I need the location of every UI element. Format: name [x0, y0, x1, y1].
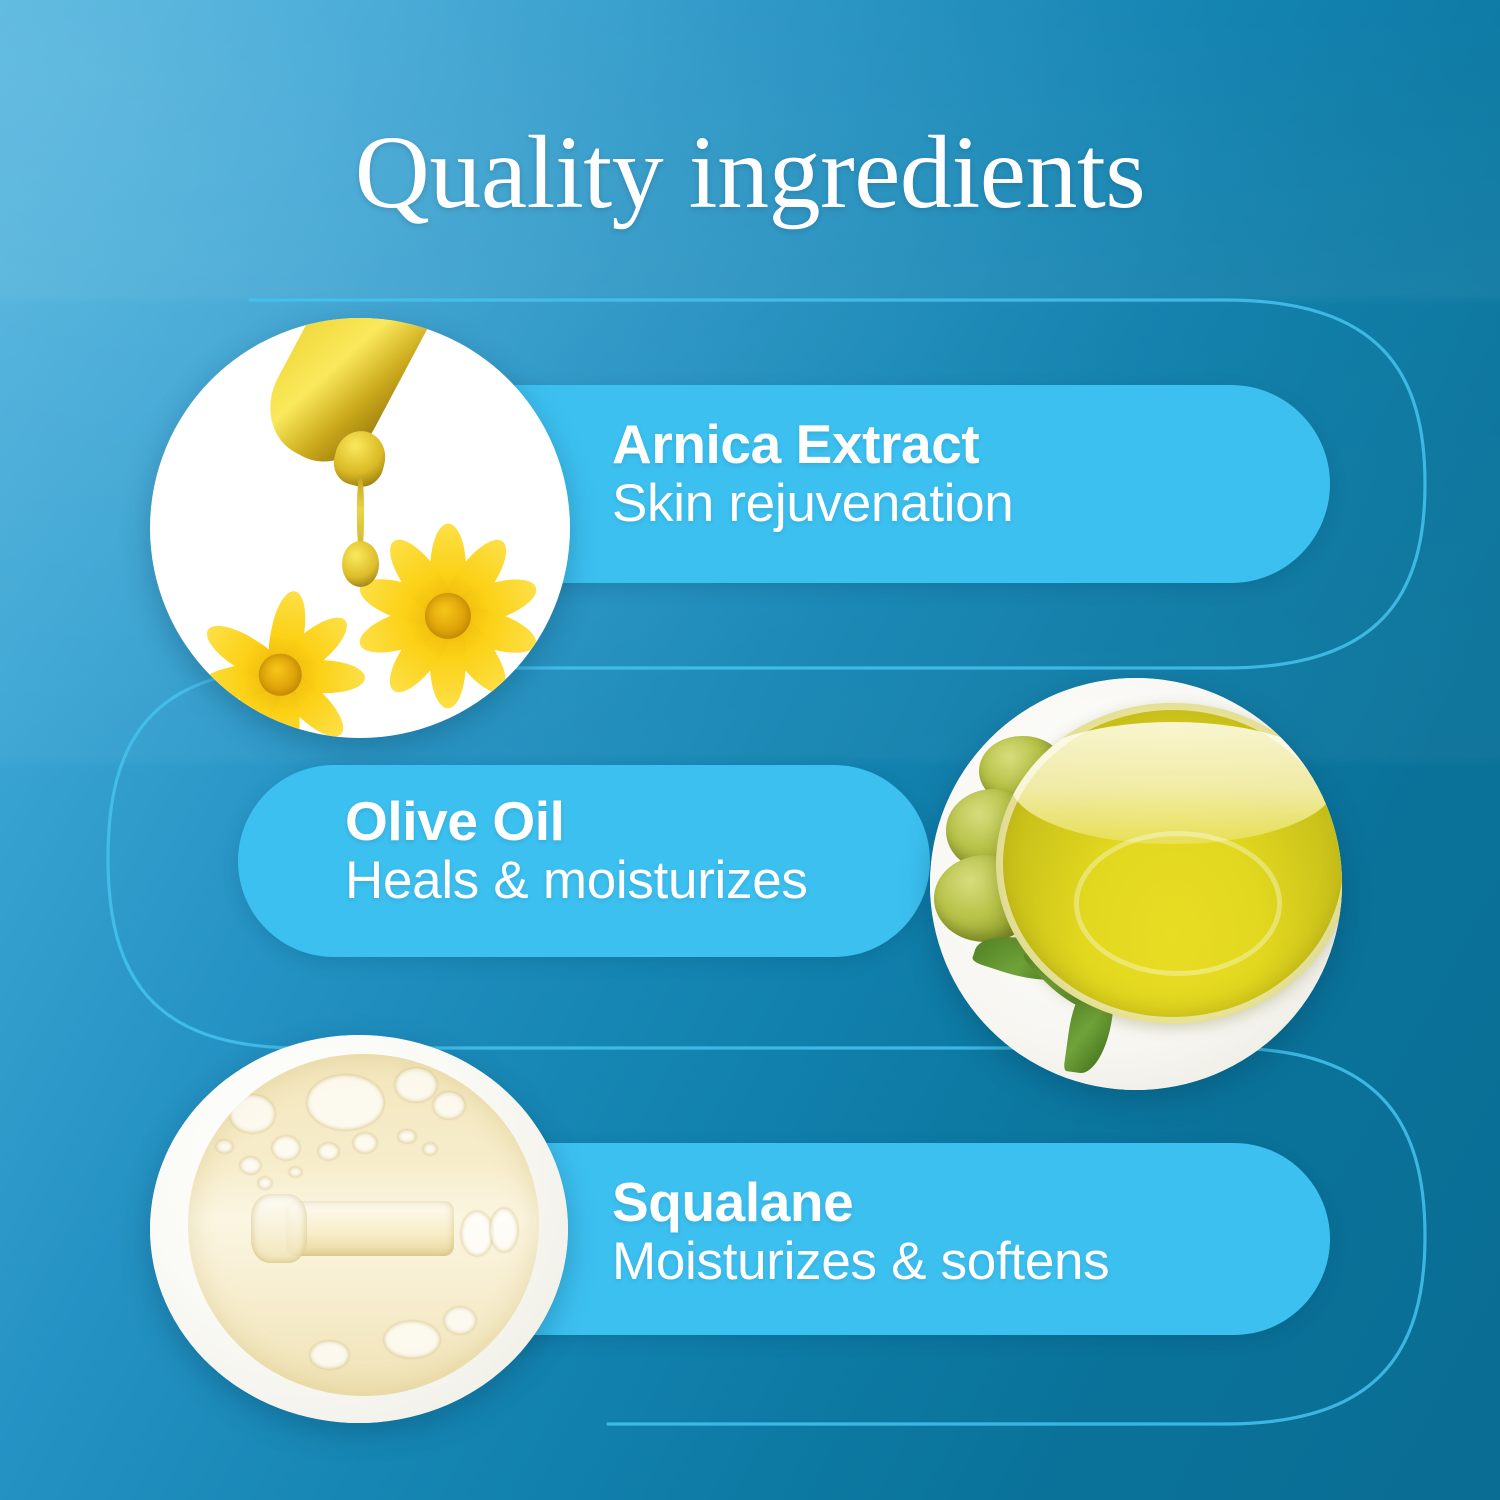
ingredient-name-squalane: Squalane — [612, 1174, 1109, 1230]
flower-center — [425, 593, 471, 639]
arnica-flower-dropper-photo — [150, 318, 570, 738]
ingredient-image-olive-oil — [930, 678, 1342, 1090]
page-title: Quality ingredients — [0, 118, 1500, 227]
glass-bowl-rim — [996, 703, 1342, 1024]
ingredient-image-arnica — [150, 318, 570, 738]
ingredient-text-squalane: Squalane Moisturizes & softens — [612, 1174, 1109, 1290]
serum-capsule — [286, 1201, 455, 1256]
ingredient-name-arnica: Arnica Extract — [612, 416, 1013, 472]
flower-center — [259, 654, 302, 697]
ingredient-benefit-squalane: Moisturizes & softens — [612, 1234, 1109, 1290]
ingredient-benefit-arnica: Skin rejuvenation — [612, 476, 1013, 532]
ingredient-text-arnica: Arnica Extract Skin rejuvenation — [612, 416, 1013, 532]
ingredient-text-olive-oil: Olive Oil Heals & moisturizes — [345, 793, 808, 909]
squalane-serum-jar-photo — [150, 1035, 568, 1423]
serum-gel — [188, 1054, 539, 1395]
infographic-canvas: Quality ingredients Arnica Extract Skin … — [0, 0, 1500, 1500]
oil-stream — [357, 478, 364, 549]
ingredient-image-squalane — [150, 1035, 568, 1423]
oil-droplet — [342, 541, 380, 587]
olive-oil-bowl-photo — [930, 678, 1342, 1090]
ingredient-benefit-olive-oil: Heals & moisturizes — [345, 853, 808, 909]
ingredient-name-olive-oil: Olive Oil — [345, 793, 808, 849]
serum-capsule-cap — [251, 1194, 307, 1262]
